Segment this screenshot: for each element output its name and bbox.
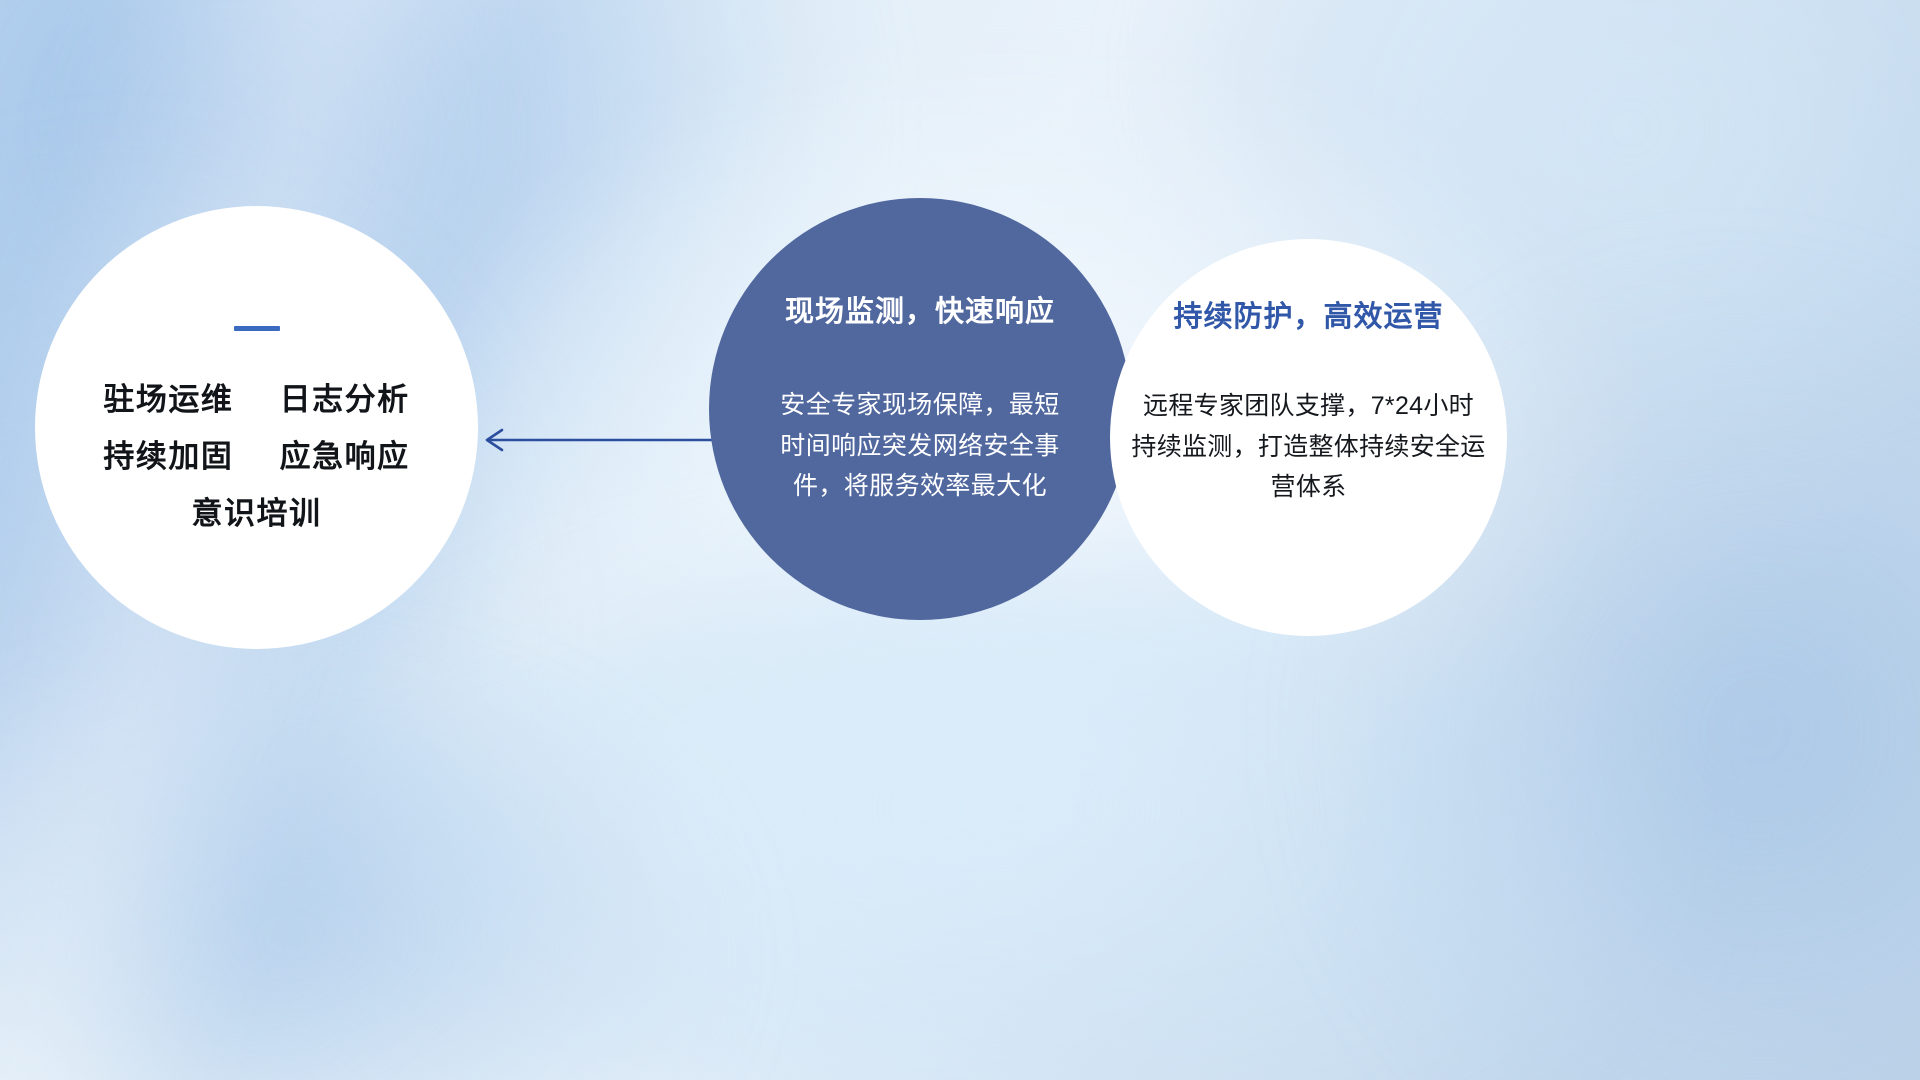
capability-emergency-response: 应急响应 [280, 439, 410, 474]
capability-row-2: 持续加固 应急响应 [103, 441, 409, 472]
middle-circle-title: 现场监测，快速响应 [785, 296, 1055, 329]
left-capability-circle[interactable]: 驻场运维 日志分析 持续加固 应急响应 意识培训 [35, 206, 478, 649]
middle-onsite-monitoring-circle[interactable]: 现场监测，快速响应 安全专家现场保障，最短时间响应突发网络安全事件，将服务效率最… [709, 198, 1131, 620]
divider-dash [234, 326, 280, 331]
capability-awareness-training: 意识培训 [192, 496, 322, 531]
right-circle-body: 远程专家团队支撑，7*24小时持续监测，打造整体持续安全运营体系 [1131, 386, 1487, 508]
leftward-arrow-icon [470, 410, 730, 470]
right-continuous-protection-circle[interactable]: 持续防护，高效运营 远程专家团队支撑，7*24小时持续监测，打造整体持续安全运营… [1110, 239, 1507, 636]
capability-row-1: 驻场运维 日志分析 [103, 384, 409, 415]
middle-circle-body: 安全专家现场保障，最短时间响应突发网络安全事件，将服务效率最大化 [770, 385, 1070, 507]
capability-onsite-ops: 驻场运维 [103, 382, 233, 417]
slide-canvas: 驻场运维 日志分析 持续加固 应急响应 意识培训 现场监测，快速响应 安全专家现… [0, 0, 1920, 1080]
capability-continuous-hardening: 持续加固 [103, 439, 233, 474]
background-glow-bottom-left [0, 700, 700, 1080]
right-circle-title: 持续防护，高效运营 [1173, 301, 1443, 334]
background-glow-bottom [300, 560, 1680, 1080]
capability-row-3: 意识培训 [192, 498, 322, 529]
capability-log-analysis: 日志分析 [280, 382, 410, 417]
